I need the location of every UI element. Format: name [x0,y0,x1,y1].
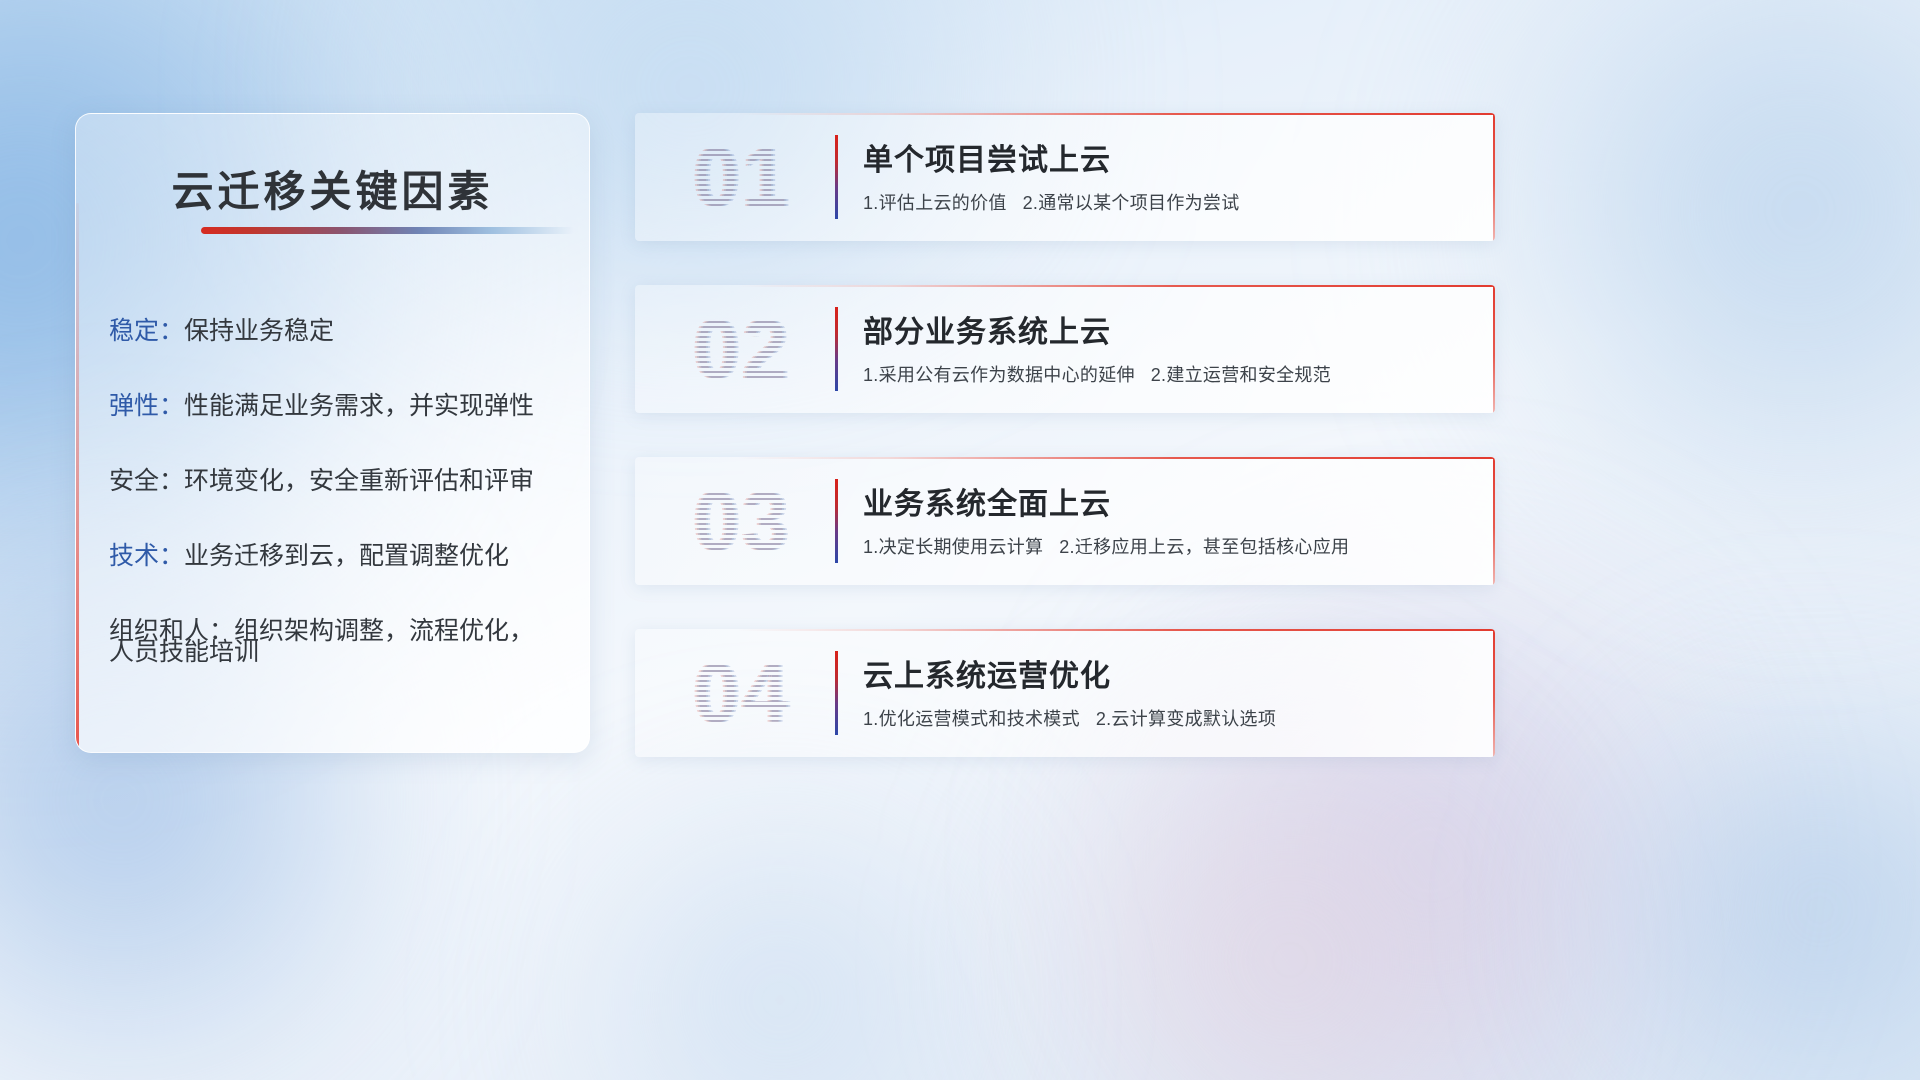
stage-number-04: 04 04 04 [657,645,827,741]
stage-number-03: 03 03 03 [657,473,827,569]
stage-card-03[interactable]: 03 03 03 业务系统全面上云 1.决定长期使用云计算 2.迁移应用上云，甚… [635,457,1495,585]
card-title: 部分业务系统上云 [863,307,1111,351]
stage-number-02: 02 02 02 [657,301,827,397]
key-factor-item: 安全：环境变化，安全重新评估和评审 [109,469,569,494]
card-title: 云上系统运营优化 [863,651,1111,695]
stage-number-main: 01 [657,129,827,225]
stage-number-01: 01 01 01 [657,129,827,225]
stage-card-04[interactable]: 04 04 04 云上系统运营优化 1.优化运营模式和技术模式 2.云计算变成默… [635,629,1495,757]
key-factor-label: 安全： [109,467,184,495]
card-description: 1.评估上云的价值 2.通常以某个项目作为尝试 [863,189,1240,215]
card-divider-bar [835,307,838,391]
page-title: 云迁移关键因素 [76,158,589,219]
key-factor-text: 环境变化，安全重新评估和评审 [184,467,534,495]
card-divider-bar [835,135,838,219]
key-factors-panel: 云迁移关键因素 稳定：保持业务稳定弹性：性能满足业务需求，并实现弹性安全：环境变… [75,113,590,753]
stage-card-02[interactable]: 02 02 02 部分业务系统上云 1.采用公有云作为数据中心的延伸 2.建立运… [635,285,1495,413]
key-factor-label: 技术： [109,542,184,570]
key-factors-list: 稳定：保持业务稳定弹性：性能满足业务需求，并实现弹性安全：环境变化，安全重新评估… [109,319,569,668]
stage-card-01[interactable]: 01 01 01 单个项目尝试上云 1.评估上云的价值 2.通常以某个项目作为尝… [635,113,1495,241]
stage-number-main: 03 [657,473,827,569]
card-description: 1.优化运营模式和技术模式 2.云计算变成默认选项 [863,705,1276,731]
stage-number-main: 02 [657,301,827,397]
card-title: 单个项目尝试上云 [863,135,1111,179]
card-divider-bar [835,479,838,563]
card-title: 业务系统全面上云 [863,479,1111,523]
stage-number-main: 04 [657,645,827,741]
key-factor-item: 稳定：保持业务稳定 [109,319,569,344]
key-factor-label: 弹性： [109,392,184,420]
key-factor-item: 技术：业务迁移到云，配置调整优化 [109,544,569,569]
slide-stage: 云迁移关键因素 稳定：保持业务稳定弹性：性能满足业务需求，并实现弹性安全：环境变… [0,0,1920,1080]
title-underline [201,227,574,234]
key-factor-text: 组织架构调整，流程优化， [234,617,534,645]
card-divider-bar [835,651,838,735]
key-factor-text: 保持业务稳定 [184,317,334,345]
key-factor-text: 业务迁移到云，配置调整优化 [184,542,509,570]
card-description: 1.决定长期使用云计算 2.迁移应用上云，甚至包括核心应用 [863,533,1349,559]
card-description: 1.采用公有云作为数据中心的延伸 2.建立运营和安全规范 [863,361,1331,387]
key-factor-item: 弹性：性能满足业务需求，并实现弹性 [109,394,569,419]
key-factor-label: 稳定： [109,317,184,345]
key-factor-text: 性能满足业务需求，并实现弹性 [184,392,534,420]
